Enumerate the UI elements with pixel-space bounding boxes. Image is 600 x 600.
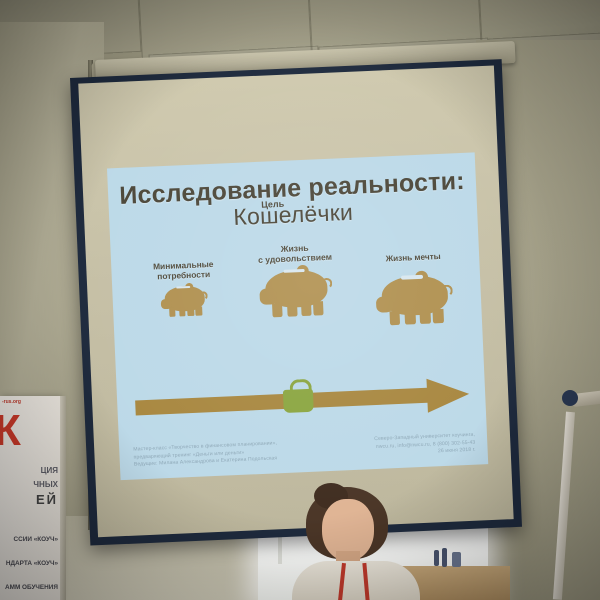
presenter	[292, 487, 420, 600]
banner-headline-line2: ЧНЫХ	[33, 480, 58, 489]
banner-bullet-3: АММ ОБУЧЕНИЯ	[5, 584, 58, 591]
projection-screen-frame: Исследование реальности: Кошелёчки Миним…	[70, 59, 522, 545]
stage-dream-life: Жизнь мечты	[357, 251, 472, 333]
stage-3-label: Жизнь мечты	[357, 251, 469, 265]
stage-2-label: Жизнь с удовольствием	[237, 242, 354, 267]
banner-headline-line1: ЦИЯ	[41, 466, 58, 475]
banner-edge	[60, 396, 66, 600]
projected-slide: Исследование реальности: Кошелёчки Миним…	[107, 152, 488, 480]
stage-1-label-line2: потребности	[157, 269, 210, 281]
stage-minimal-needs: Минимальные потребности	[127, 259, 241, 323]
stage-1-label: Минимальные потребности	[127, 259, 240, 283]
projection-screen-surface: Исследование реальности: Кошелёчки Миним…	[78, 65, 513, 537]
arrow-head	[426, 377, 469, 413]
banner-headline-line3: ЕЙ	[36, 492, 58, 507]
goal-bag-icon	[282, 379, 313, 413]
progress-arrow	[135, 375, 470, 430]
piggy-bank-small	[164, 286, 205, 322]
desk-object-pen	[434, 550, 439, 566]
stage-life-with-pleasure: Жизнь с удовольствием	[237, 242, 356, 325]
banner-bullet-1: ССИИ «КОУЧ»	[14, 536, 58, 543]
photo-scene: Исследование реальности: Кошелёчки Миним…	[0, 0, 600, 600]
presenter-torso	[292, 561, 420, 600]
banner-logo: К	[0, 410, 19, 452]
piggy-bank-large	[381, 275, 449, 332]
desk-object-marker	[442, 548, 447, 567]
stage-2-label-line2: с удовольствием	[258, 252, 332, 265]
piggy-bank-medium	[265, 269, 329, 324]
flipchart-pole-cap	[562, 390, 578, 406]
piggy-bank-row: Минимальные потребности Жи	[111, 244, 484, 380]
banner-url: -rus.org	[2, 399, 21, 405]
rollup-banner: -rus.org К ЦИЯ ЧНЫХ ЕЙ ССИИ «КОУЧ» НДАРТ…	[0, 396, 60, 600]
slide-footer-left: Мастер-класс «Творчество в финансовом пл…	[133, 440, 278, 469]
banner-bullet-2: НДАРТА «КОУЧ»	[6, 560, 58, 567]
stage-3-label-line1: Жизнь мечты	[386, 252, 441, 263]
slide-footer-right: Северо-Западный университет коучинга, nw…	[374, 432, 476, 459]
desk-object-cup	[452, 552, 461, 567]
